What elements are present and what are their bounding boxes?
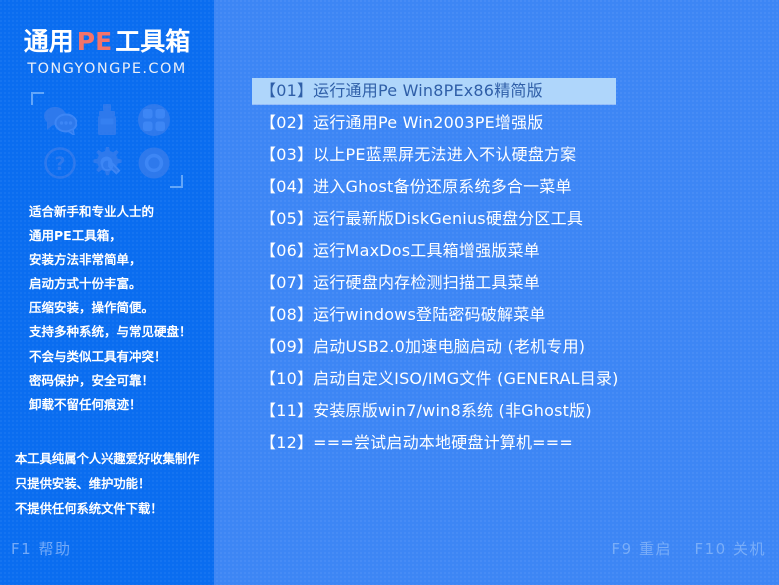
boot-menu-item[interactable]: 【11】安装原版win7/win8系统 (非Ghost版): [252, 398, 616, 424]
sidebar-feature-line: 不会与类似工具有冲突！: [29, 345, 209, 369]
sidebar-note-line: 本工具纯属个人兴趣爱好收集制作: [15, 447, 211, 472]
sidebar-disclaimer-notes: 本工具纯属个人兴趣爱好收集制作只提供安装、维护功能！不提供任何系统文件下载！: [15, 447, 211, 522]
boot-menu-item[interactable]: 【09】启动USB2.0加速电脑启动 (老机专用): [252, 334, 616, 360]
question-mark-circle-icon: ?: [41, 144, 78, 181]
decorative-icon-grid: ?: [31, 92, 183, 188]
logo-title-accent: PE: [74, 27, 115, 56]
boot-menu-item[interactable]: 【12】===尝试启动本地硬盘计算机===: [252, 430, 616, 456]
sidebar-feature-list: 适合新手和专业人士的通用PE工具箱，安装方法非常简单，启动方式十份丰富。压缩安装…: [29, 200, 209, 417]
gear-wrench-icon: [88, 144, 125, 181]
footer-key-hints: F9 重启 F10 关机: [612, 538, 767, 559]
sidebar: 通用PE工具箱 TONGYONGPE.COM: [0, 0, 214, 585]
sidebar-note-line: 只提供安装、维护功能！: [15, 472, 211, 497]
disc-icon: [135, 144, 172, 181]
boot-menu-item[interactable]: 【01】运行通用Pe Win8PEx86精简版: [252, 78, 616, 104]
usb-drive-icon: [88, 101, 125, 138]
sidebar-feature-line: 压缩安装，操作简便。: [29, 296, 209, 320]
chat-bubbles-icon: [41, 101, 78, 138]
boot-menu-item[interactable]: 【05】运行最新版DiskGenius硬盘分区工具: [252, 206, 616, 232]
logo-title-part1: 通用: [24, 27, 74, 56]
sidebar-feature-line: 卸载不留任何痕迹！: [29, 393, 209, 417]
brand-logo: 通用PE工具箱 TONGYONGPE.COM: [0, 27, 214, 78]
windows-grid-icon: [135, 101, 172, 138]
boot-menu-item[interactable]: 【10】启动自定义ISO/IMG文件 (GENERAL目录): [252, 366, 616, 392]
boot-menu-item[interactable]: 【04】进入Ghost备份还原系统多合一菜单: [252, 174, 616, 200]
boot-menu-item[interactable]: 【03】以上PE蓝黑屏无法进入不认硬盘方案: [252, 142, 616, 168]
help-hint[interactable]: F1 帮助: [11, 538, 71, 559]
sidebar-feature-line: 密码保护，安全可靠！: [29, 369, 209, 393]
svg-text:?: ?: [54, 153, 65, 175]
sidebar-feature-line: 安装方法非常简单，: [29, 248, 209, 272]
sidebar-feature-line: 启动方式十份丰富。: [29, 272, 209, 296]
sidebar-feature-line: 支持多种系统，与常见硬盘！: [29, 320, 209, 344]
sidebar-note-line: 不提供任何系统文件下载！: [15, 497, 211, 522]
restart-hint[interactable]: F9 重启: [612, 540, 672, 558]
sidebar-feature-line: 适合新手和专业人士的: [29, 200, 209, 224]
shutdown-hint[interactable]: F10 关机: [695, 540, 766, 558]
boot-menu-screen: 通用PE工具箱 TONGYONGPE.COM: [0, 0, 779, 585]
boot-menu-list: 【01】运行通用Pe Win8PEx86精简版【02】运行通用Pe Win200…: [252, 78, 616, 462]
logo-website-url: TONGYONGPE.COM: [0, 60, 214, 78]
boot-menu-item[interactable]: 【06】运行MaxDos工具箱增强版菜单: [252, 238, 616, 264]
boot-menu-item[interactable]: 【02】运行通用Pe Win2003PE增强版: [252, 110, 616, 136]
logo-title-part2: 工具箱: [115, 27, 190, 56]
logo-title: 通用PE工具箱: [0, 27, 214, 57]
boot-menu-item[interactable]: 【07】运行硬盘内存检测扫描工具菜单: [252, 270, 616, 296]
boot-menu-item[interactable]: 【08】运行windows登陆密码破解菜单: [252, 302, 616, 328]
sidebar-feature-line: 通用PE工具箱，: [29, 224, 209, 248]
